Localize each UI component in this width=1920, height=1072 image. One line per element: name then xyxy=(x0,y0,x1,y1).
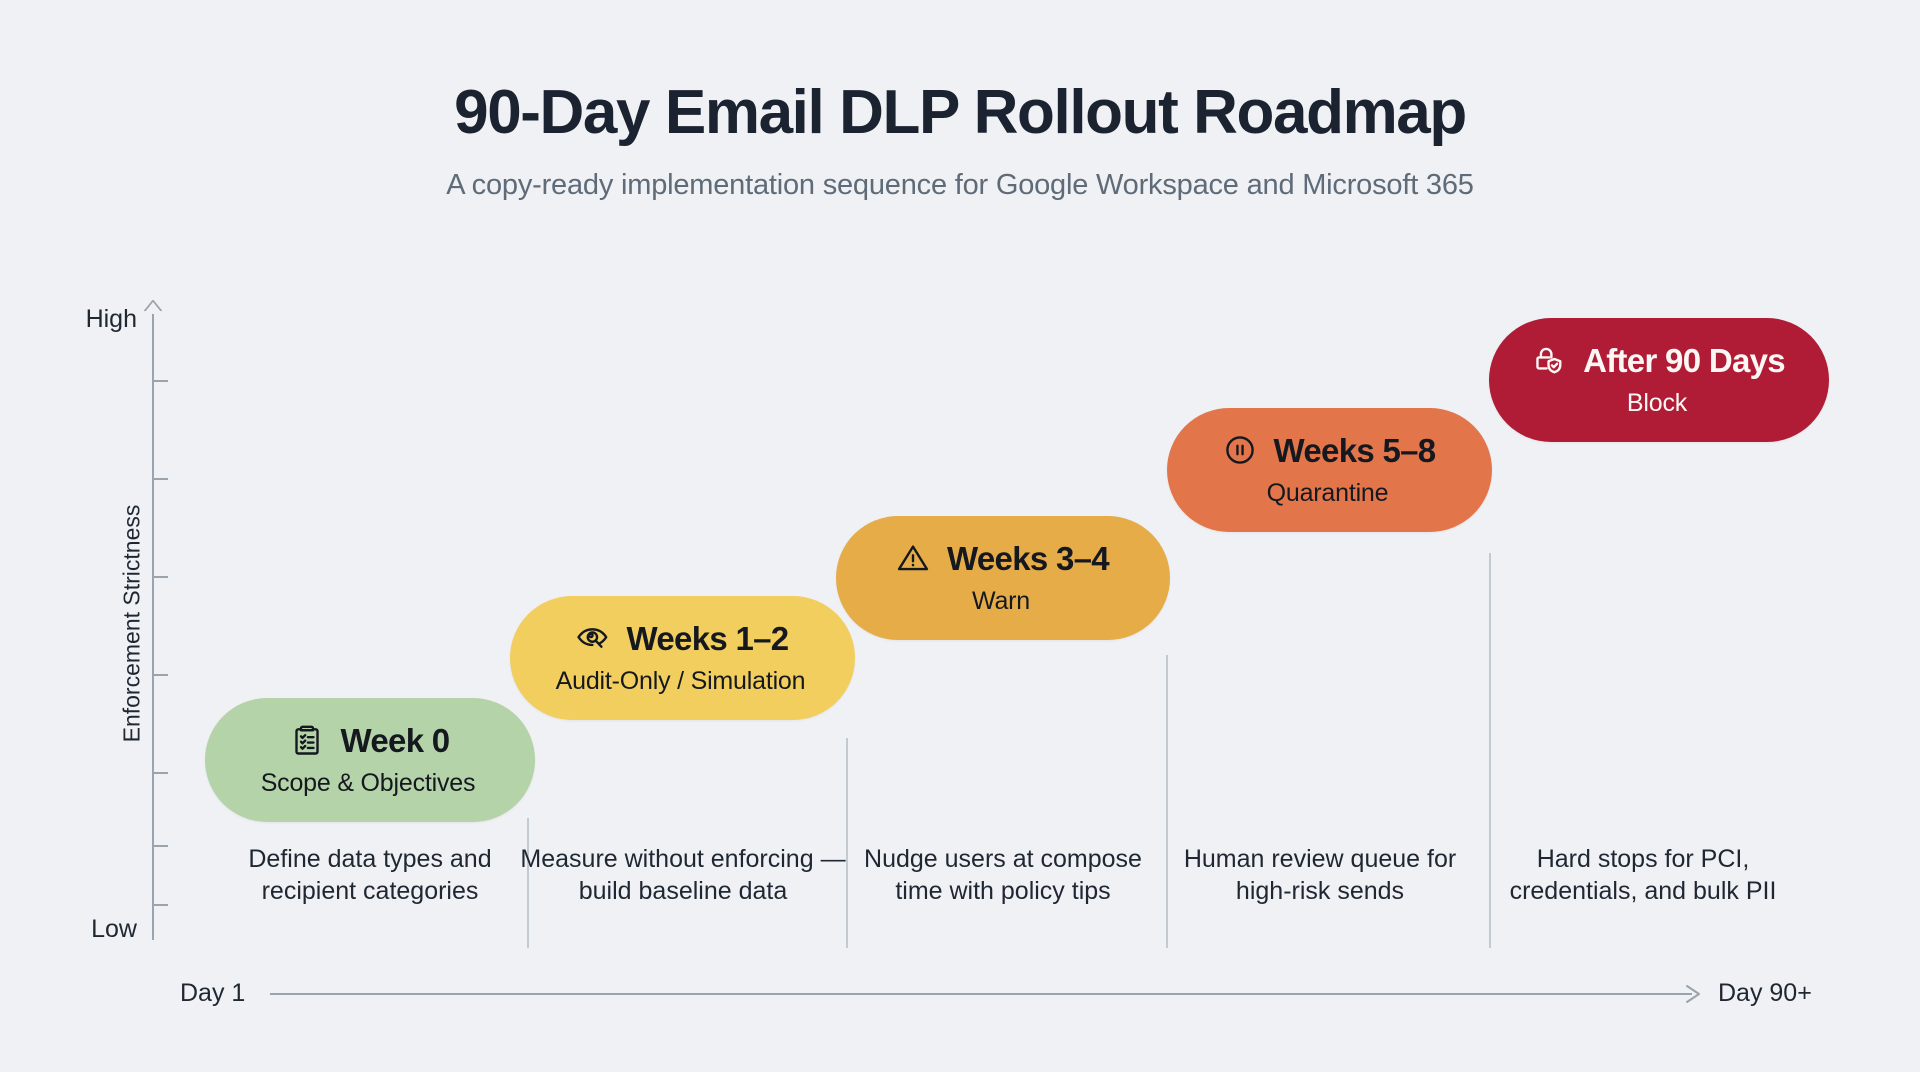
clipboard-check-icon xyxy=(287,720,327,760)
step-caption: Define data types and recipient categori… xyxy=(205,843,535,907)
eye-search-icon xyxy=(573,618,613,658)
x-axis-arrow-icon xyxy=(1685,984,1707,1004)
x-axis-start-label: Day 1 xyxy=(180,979,245,1008)
step-pill-weeks-1-2[interactable]: Weeks 1–2 Audit-Only / Simulation xyxy=(510,596,855,720)
step-caption: Measure without enforcing — build baseli… xyxy=(518,843,848,907)
warning-triangle-icon xyxy=(893,538,933,578)
step-pill-week-0[interactable]: Week 0 Scope & Objectives xyxy=(205,698,535,822)
lock-shield-icon xyxy=(1529,340,1569,380)
step-title: Weeks 1–2 xyxy=(627,622,789,655)
x-axis-line xyxy=(270,993,1692,995)
step-subtitle: Block xyxy=(1519,389,1795,418)
step-title: After 90 Days xyxy=(1583,344,1785,377)
step-caption: Hard stops for PCI, credentials, and bul… xyxy=(1478,843,1808,907)
step-title: Week 0 xyxy=(341,724,450,757)
roadmap-infographic: 90-Day Email DLP Rollout Roadmap A copy-… xyxy=(0,0,1920,1072)
step-pill-weeks-3-4[interactable]: Weeks 3–4 Warn xyxy=(836,516,1170,640)
step-subtitle: Quarantine xyxy=(1197,479,1458,508)
x-axis-end-label: Day 90+ xyxy=(1718,979,1812,1008)
step-subtitle: Audit-Only / Simulation xyxy=(540,667,821,696)
step-title: Weeks 5–8 xyxy=(1274,434,1436,467)
x-axis: Day 1 Day 90+ xyxy=(180,975,1840,1015)
step-caption: Human review queue for high-risk sends xyxy=(1155,843,1485,907)
step-pill-weeks-5-8[interactable]: Weeks 5–8 Quarantine xyxy=(1167,408,1492,532)
step-subtitle: Warn xyxy=(866,587,1136,616)
step-subtitle: Scope & Objectives xyxy=(235,769,501,798)
roadmap-steps: Week 0 Scope & Objectives Define data ty… xyxy=(0,0,1920,1072)
pause-circle-icon xyxy=(1220,430,1260,470)
step-pill-after-90-days[interactable]: After 90 Days Block xyxy=(1489,318,1829,442)
step-caption: Nudge users at compose time with policy … xyxy=(838,843,1168,907)
step-title: Weeks 3–4 xyxy=(947,542,1109,575)
